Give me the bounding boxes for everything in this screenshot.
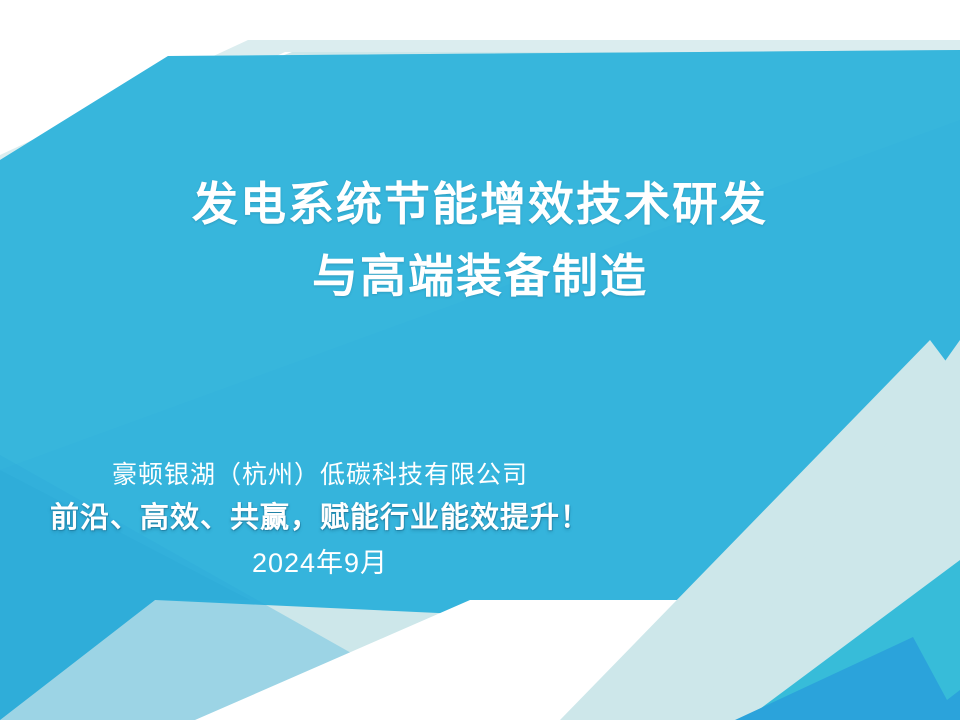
slogan: 前沿、高效、共赢，赋能行业能效提升！ <box>0 495 640 541</box>
subtitle-block: 豪顿银湖（杭州）低碳科技有限公司 前沿、高效、共赢，赋能行业能效提升！ 2024… <box>0 455 640 585</box>
background-decoration <box>0 0 960 720</box>
title-line-1: 发电系统节能增效技术研发 <box>0 168 960 240</box>
company-name: 豪顿银湖（杭州）低碳科技有限公司 <box>0 455 640 495</box>
title-block: 发电系统节能增效技术研发 与高端装备制造 <box>0 168 960 312</box>
title-line-2: 与高端装备制造 <box>0 240 960 312</box>
slide-date: 2024年9月 <box>0 541 640 585</box>
title-slide: 发电系统节能增效技术研发 与高端装备制造 豪顿银湖（杭州）低碳科技有限公司 前沿… <box>0 0 960 720</box>
